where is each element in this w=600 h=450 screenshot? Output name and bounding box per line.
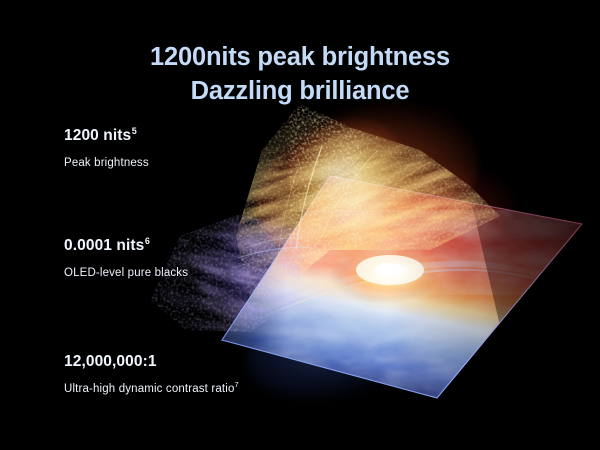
stat-label-text: Ultra-high dynamic contrast ratio: [64, 383, 235, 395]
stat-peak-brightness: 1200 nits5 Peak brightness: [64, 126, 149, 171]
stat-value: 1200 nits5: [64, 126, 149, 146]
stat-label-text: OLED-level pure blacks: [64, 267, 188, 279]
stat-label-text: Peak brightness: [64, 157, 149, 169]
stat-label: Peak brightness: [64, 155, 149, 171]
stat-footnote-marker: 6: [145, 236, 150, 246]
stat-footnote-marker: 5: [132, 126, 137, 136]
stat-label-footnote-marker: 7: [235, 380, 239, 389]
stat-pure-blacks: 0.0001 nits6 OLED-level pure blacks: [64, 236, 188, 281]
stat-value: 0.0001 nits6: [64, 236, 188, 256]
stat-contrast-ratio: 12,000,000:1 Ultra-high dynamic contrast…: [64, 352, 239, 397]
stat-label: Ultra-high dynamic contrast ratio7: [64, 381, 239, 397]
stat-value: 12,000,000:1: [64, 352, 239, 372]
stat-label: OLED-level pure blacks: [64, 265, 188, 281]
slide-canvas: 1200nits peak brightness Dazzling brilli…: [0, 0, 600, 450]
stat-value-text: 12,000,000:1: [64, 353, 157, 370]
stat-value-text: 1200 nits: [64, 127, 131, 144]
stat-value-text: 0.0001 nits: [64, 237, 144, 254]
